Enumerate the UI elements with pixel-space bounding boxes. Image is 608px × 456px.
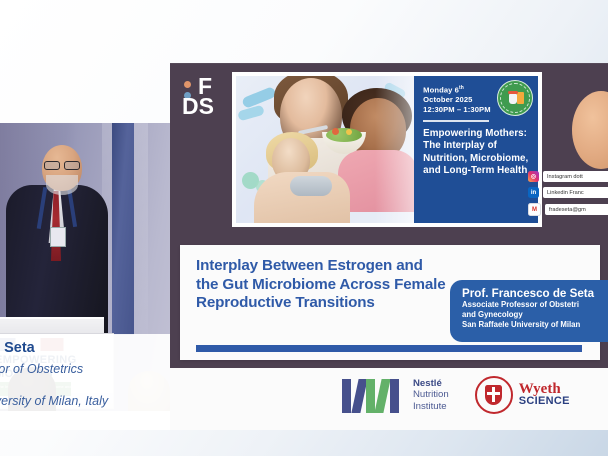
talk-title-card: Interplay Between Estrogen and the Gut M…	[180, 245, 600, 360]
speaker-role-line-2: and Gynecology	[462, 310, 608, 320]
promo-date-line3: 12:30PM – 1:30PM	[423, 105, 490, 114]
speaker-name: Prof. Francesco de Seta	[462, 287, 608, 300]
speaker-role-line-1: Associate Professor of Obstetri	[462, 300, 608, 310]
contact-row[interactable]: M fradeseta@gm	[528, 203, 608, 216]
nni-line-3: Institute	[413, 401, 449, 412]
fds-logo-line2: DS	[182, 95, 214, 118]
promo-divider	[423, 120, 489, 121]
overlay-role-line-1: Professor of Obstetrics	[0, 362, 83, 376]
fds-dot-orange-icon	[184, 81, 191, 88]
woman-c-top	[290, 176, 332, 196]
speaker-glasses	[44, 161, 80, 168]
linkedin-icon: in	[528, 187, 539, 198]
promo-text-block: Monday 6th October 2025 12:30PM – 1:30PM…	[414, 76, 538, 223]
nni-line-2: Nutrition	[413, 389, 449, 400]
overlay-speaker-name: cesco de Seta	[0, 340, 35, 356]
talk-title: Interplay Between Estrogen and the Gut M…	[196, 257, 448, 313]
lunch-available-badge	[497, 80, 533, 116]
speaker-beard	[46, 175, 78, 195]
wyeth-crest-icon	[475, 376, 513, 414]
speaker-name-overlay: cesco de Seta Professor of Obstetrics co…	[0, 334, 186, 430]
contact-text: fradeseta@gm	[545, 204, 608, 215]
promo-date-line2: October 2025	[423, 95, 472, 104]
photo-fade	[375, 76, 414, 223]
overlay-role-line-3: ele University of Milan, Italy	[0, 394, 108, 408]
salad-corn	[346, 129, 352, 135]
contact-row[interactable]: in Linkedin Franc	[528, 187, 608, 198]
event-promo-banner: Monday 6th October 2025 12:30PM – 1:30PM…	[232, 72, 542, 227]
bacteria-rod-icon	[237, 105, 265, 122]
instagram-icon: ◎	[528, 171, 539, 182]
stage-curtain	[112, 123, 134, 335]
promo-title: Empowering Mothers: The Interplay of Nut…	[423, 128, 530, 178]
badge-cup-icon	[509, 94, 517, 104]
contact-text: Instagram dott	[543, 171, 608, 182]
speaker-info-box: Prof. Francesco de Seta Associate Profes…	[450, 280, 608, 342]
title-accent-bar	[196, 345, 582, 352]
nni-stroke	[366, 379, 375, 413]
badge-lid-icon	[508, 91, 518, 94]
wyeth-line-2: SCIENCE	[519, 395, 570, 407]
wyeth-wordmark: Wyeth SCIENCE	[519, 383, 570, 407]
nni-stroke	[390, 379, 399, 413]
promo-date-line1: Monday 6	[423, 86, 459, 95]
contact-text: Linkedin Franc	[543, 187, 608, 198]
contact-row[interactable]: ◎ Instagram dott	[528, 171, 608, 182]
wyeth-line-1: Wyeth	[519, 383, 570, 395]
nni-line-1: Nestlé	[413, 378, 449, 389]
speaker-role-line-3: San Raffaele University of Milan	[462, 320, 608, 330]
promo-photo-collage	[236, 76, 414, 223]
contacts-list: ◎ Instagram dott in Linkedin Franc M fra…	[528, 171, 608, 221]
nni-stroke	[374, 379, 390, 413]
promo-date-sup: th	[459, 85, 464, 91]
nni-monogram-icon	[342, 377, 406, 413]
wyeth-crest-inner	[485, 385, 502, 405]
speaker-badge	[50, 227, 66, 247]
footer-logo-strip: Nestlé Nutrition Institute Wyeth SCIENCE	[170, 368, 608, 430]
nestle-nutrition-institute-logo: Nestlé Nutrition Institute	[342, 377, 449, 413]
promo-inner: Monday 6th October 2025 12:30PM – 1:30PM…	[236, 76, 538, 223]
sponsor-logos: Nestlé Nutrition Institute Wyeth SCIENCE	[342, 376, 570, 414]
salad-tomato	[332, 128, 339, 135]
badge-lunchbox-icon	[517, 92, 524, 104]
nni-wordmark: Nestlé Nutrition Institute	[413, 378, 449, 412]
gmail-icon: M	[528, 203, 541, 216]
wyeth-science-center-logo: Wyeth SCIENCE	[475, 376, 570, 414]
screen-root: EMPOWERING MOTHERS The Interplay of Nutr…	[0, 0, 608, 456]
nni-stroke	[342, 379, 351, 413]
